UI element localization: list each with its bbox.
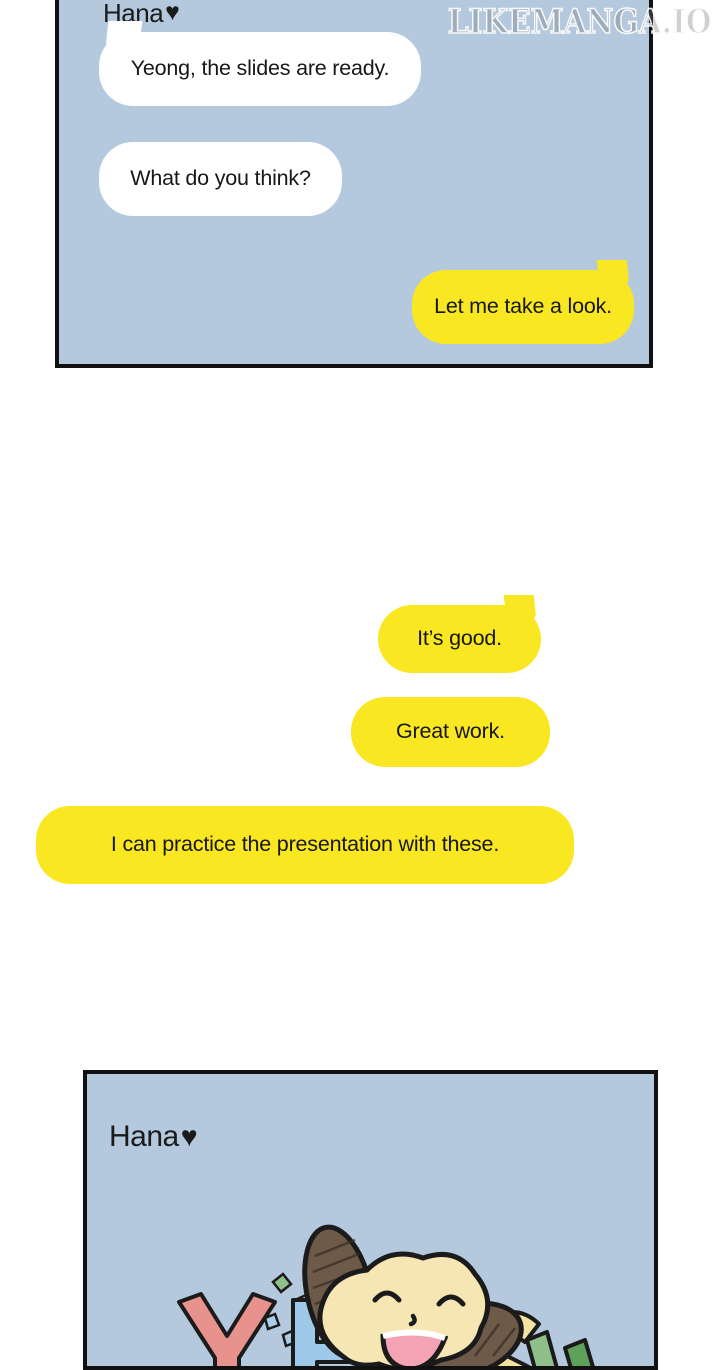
- chat-bubble-its-good: It’s good.: [378, 605, 541, 673]
- panel-bottom-speaker-name: Hana: [109, 1120, 179, 1154]
- chat-bubble-what-do-you-think: What do you think?: [99, 142, 342, 216]
- chat-bubble-slides-ready: Yeong, the slides are ready.: [99, 32, 421, 106]
- letter-y: [179, 1294, 275, 1370]
- chat-bubble-text: It’s good.: [417, 627, 502, 651]
- chat-bubble-let-me-take-a-look: Let me take a look.: [412, 270, 634, 344]
- chat-bubble-text: What do you think?: [130, 167, 310, 191]
- panel-bottom-speaker-label: Hana♥: [109, 1120, 197, 1154]
- chat-bubble-practice-presentation: I can practice the presentation with the…: [36, 806, 574, 884]
- heart-icon: ♥: [165, 1, 179, 26]
- bubble-tail-icon: [106, 21, 143, 47]
- comic-panel-top: Hana♥ Yeong, the slides are ready. What …: [55, 0, 653, 368]
- chat-bubble-text: Let me take a look.: [434, 295, 612, 319]
- heart-icon: ♥: [181, 1123, 197, 1152]
- bubble-tail-icon: [597, 260, 630, 284]
- chat-bubble-text: Great work.: [396, 720, 505, 744]
- chat-bubble-text: Yeong, the slides are ready.: [131, 57, 390, 81]
- comic-panel-bottom: Hana♥: [83, 1070, 658, 1370]
- chat-bubble-great-work: Great work.: [351, 697, 550, 767]
- bubble-tail-icon: [504, 595, 537, 619]
- chat-bubble-text: I can practice the presentation with the…: [111, 833, 499, 857]
- celebration-illustration: [87, 1170, 654, 1370]
